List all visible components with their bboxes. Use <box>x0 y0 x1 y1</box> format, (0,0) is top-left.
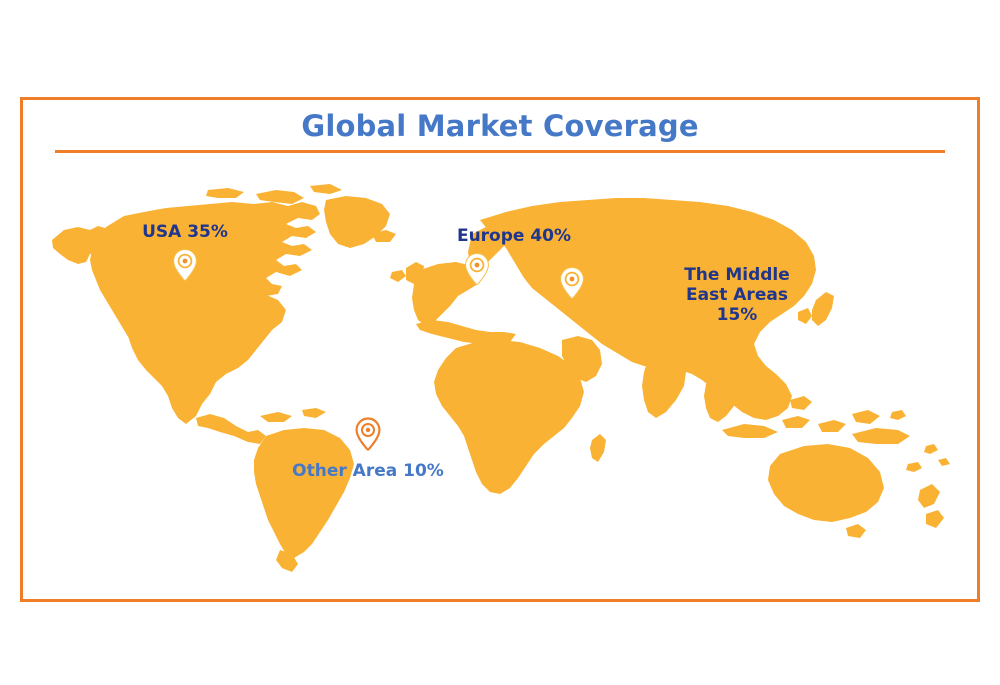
map-pin-icon[interactable] <box>463 252 491 286</box>
marker-label-other-area: Other Area 10% <box>292 461 444 481</box>
map-pin-icon[interactable] <box>558 266 586 300</box>
marker-label-usa: USA 35% <box>142 222 228 242</box>
marker-label-middle-east: The Middle East Areas 15% <box>672 265 802 325</box>
global-market-coverage-infographic: Global Market Coverage <box>0 0 1000 685</box>
page-title-container: Global Market Coverage <box>20 106 980 146</box>
map-pin-icon[interactable] <box>171 248 199 282</box>
marker-label-europe: Europe 40% <box>457 226 571 246</box>
map-pin-icon[interactable] <box>354 417 382 451</box>
title-underline-rule <box>55 150 945 153</box>
page-title: Global Market Coverage <box>20 106 980 146</box>
